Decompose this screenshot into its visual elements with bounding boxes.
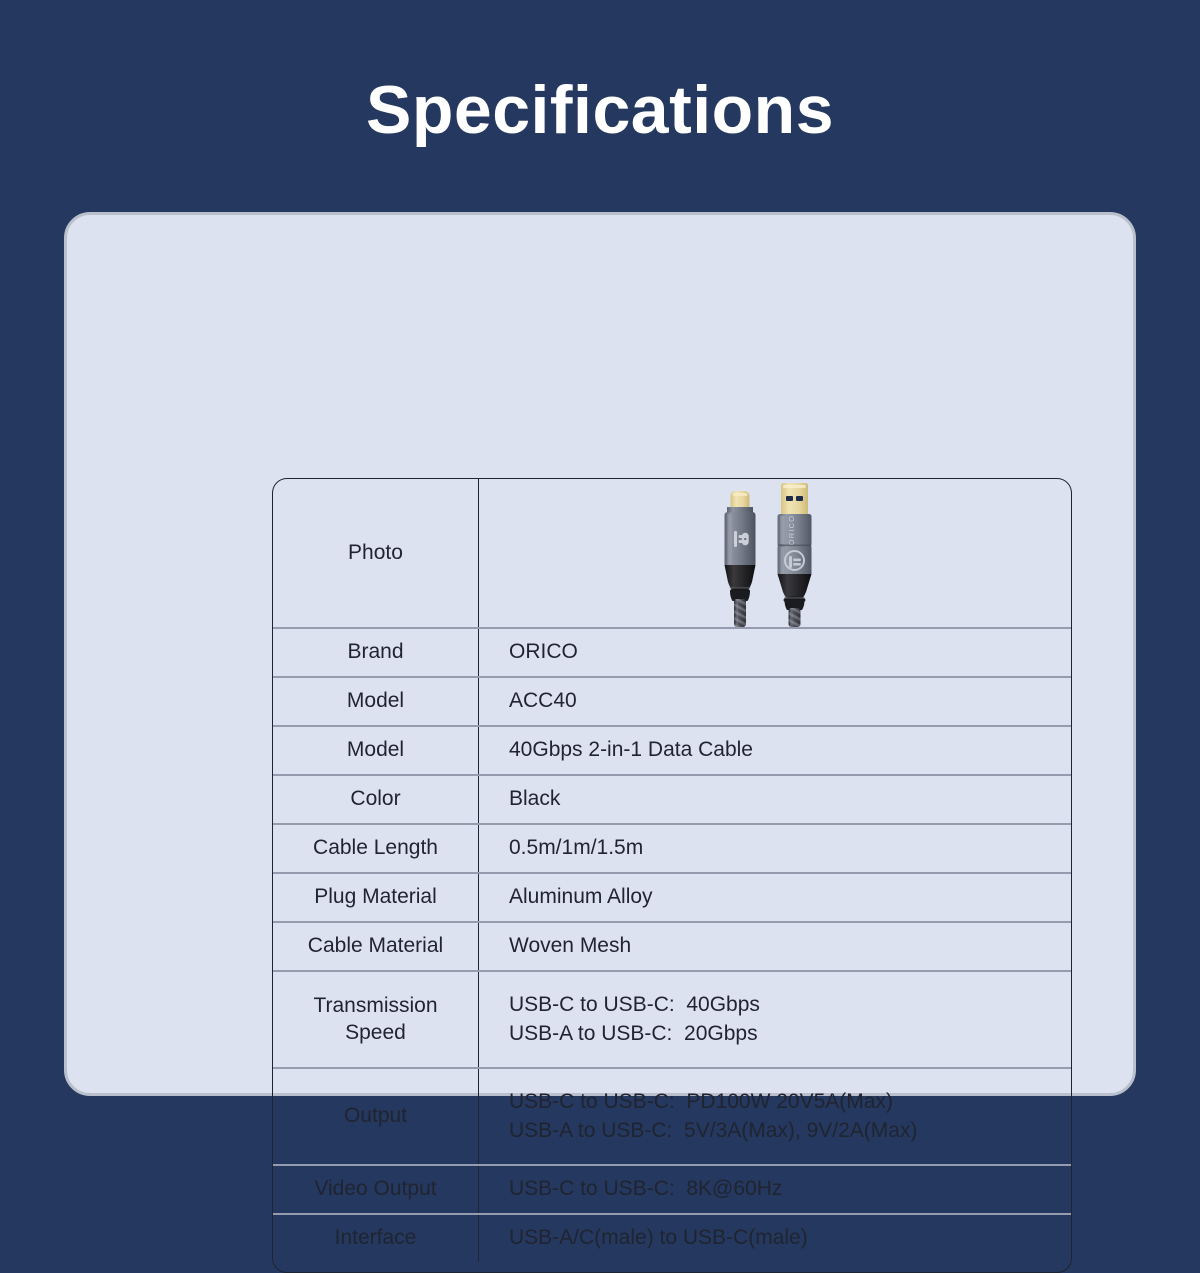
row-label-video-output: Video Output <box>273 1166 479 1213</box>
row-value-model-name: 40Gbps 2-in-1 Data Cable <box>479 727 1071 774</box>
row-label-output: Output <box>273 1069 479 1164</box>
value-line: 0.5m/1m/1.5m <box>509 834 1071 862</box>
label-line: Transmission <box>313 994 437 1017</box>
row-value-model-code: ACC40 <box>479 678 1071 725</box>
row-value-video-output: USB-C to USB-C: 8K@60Hz <box>479 1166 1071 1213</box>
table-row: Video Output USB-C to USB-C: 8K@60Hz <box>273 1164 1071 1213</box>
table-row: Color Black <box>273 774 1071 823</box>
row-value-interface: USB-A/C(male) to USB-C(male) <box>479 1215 1071 1262</box>
row-value-plug-material: Aluminum Alloy <box>479 874 1071 921</box>
row-label-interface: Interface <box>273 1215 479 1262</box>
table-row: Cable Length 0.5m/1m/1.5m <box>273 823 1071 872</box>
product-photo-usb-cable: ORICO <box>705 479 845 627</box>
value-line: USB-A to USB-C: 5V/3A(Max), 9V/2A(Max) <box>509 1117 1071 1145</box>
row-value-output: USB-C to USB-C: PD100W 20V5A(Max) USB-A … <box>479 1069 1071 1164</box>
value-line: 40Gbps 2-in-1 Data Cable <box>509 736 1071 764</box>
value-line: ACC40 <box>509 687 1071 715</box>
row-label-cable-material: Cable Material <box>273 923 479 970</box>
row-value-brand: ORICO <box>479 629 1071 676</box>
table-row: Photo <box>273 479 1071 627</box>
row-value-cable-material: Woven Mesh <box>479 923 1071 970</box>
value-line: Woven Mesh <box>509 932 1071 960</box>
usb-c-connector <box>725 491 756 627</box>
table-row: Plug Material Aluminum Alloy <box>273 872 1071 921</box>
table-row: Output USB-C to USB-C: PD100W 20V5A(Max)… <box>273 1067 1071 1164</box>
row-value-transmission-speed: USB-C to USB-C: 40Gbps USB-A to USB-C: 2… <box>479 972 1071 1067</box>
value-line: USB-A to USB-C: 20Gbps <box>509 1020 1071 1048</box>
table-row: Model ACC40 <box>273 676 1071 725</box>
row-label-brand: Brand <box>273 629 479 676</box>
value-line: Black <box>509 785 1071 813</box>
value-line: USB-C to USB-C: 8K@60Hz <box>509 1175 1071 1203</box>
specifications-page: Specifications Photo <box>0 0 1200 1200</box>
value-line: USB-C to USB-C: PD100W 20V5A(Max) <box>509 1088 1071 1116</box>
value-line: Aluminum Alloy <box>509 883 1071 911</box>
svg-text:ORICO: ORICO <box>787 515 796 546</box>
usb-a-connector: ORICO <box>778 483 812 627</box>
specifications-card: Photo <box>64 212 1136 1096</box>
value-line: USB-A/C(male) to USB-C(male) <box>509 1224 1071 1252</box>
row-label-cable-length: Cable Length <box>273 825 479 872</box>
label-line: Speed <box>345 1021 406 1044</box>
table-row: Model 40Gbps 2-in-1 Data Cable <box>273 725 1071 774</box>
row-value-color: Black <box>479 776 1071 823</box>
row-label-plug-material: Plug Material <box>273 874 479 921</box>
table-row: Cable Material Woven Mesh <box>273 921 1071 970</box>
page-title: Specifications <box>0 76 1200 144</box>
table-row: Brand ORICO <box>273 627 1071 676</box>
row-label-photo: Photo <box>273 479 479 627</box>
table-row: Interface USB-A/C(male) to USB-C(male) <box>273 1213 1071 1262</box>
row-value-cable-length: 0.5m/1m/1.5m <box>479 825 1071 872</box>
table-row: Transmission Speed USB-C to USB-C: 40Gbp… <box>273 970 1071 1067</box>
value-line: USB-C to USB-C: 40Gbps <box>509 991 1071 1019</box>
row-value-photo: ORICO <box>479 479 1071 627</box>
value-line: ORICO <box>509 638 1071 666</box>
specifications-table: Photo <box>272 478 1072 1273</box>
row-label-color: Color <box>273 776 479 823</box>
row-label-transmission-speed: Transmission Speed <box>273 972 479 1067</box>
row-label-model-code: Model <box>273 678 479 725</box>
row-label-model-name: Model <box>273 727 479 774</box>
